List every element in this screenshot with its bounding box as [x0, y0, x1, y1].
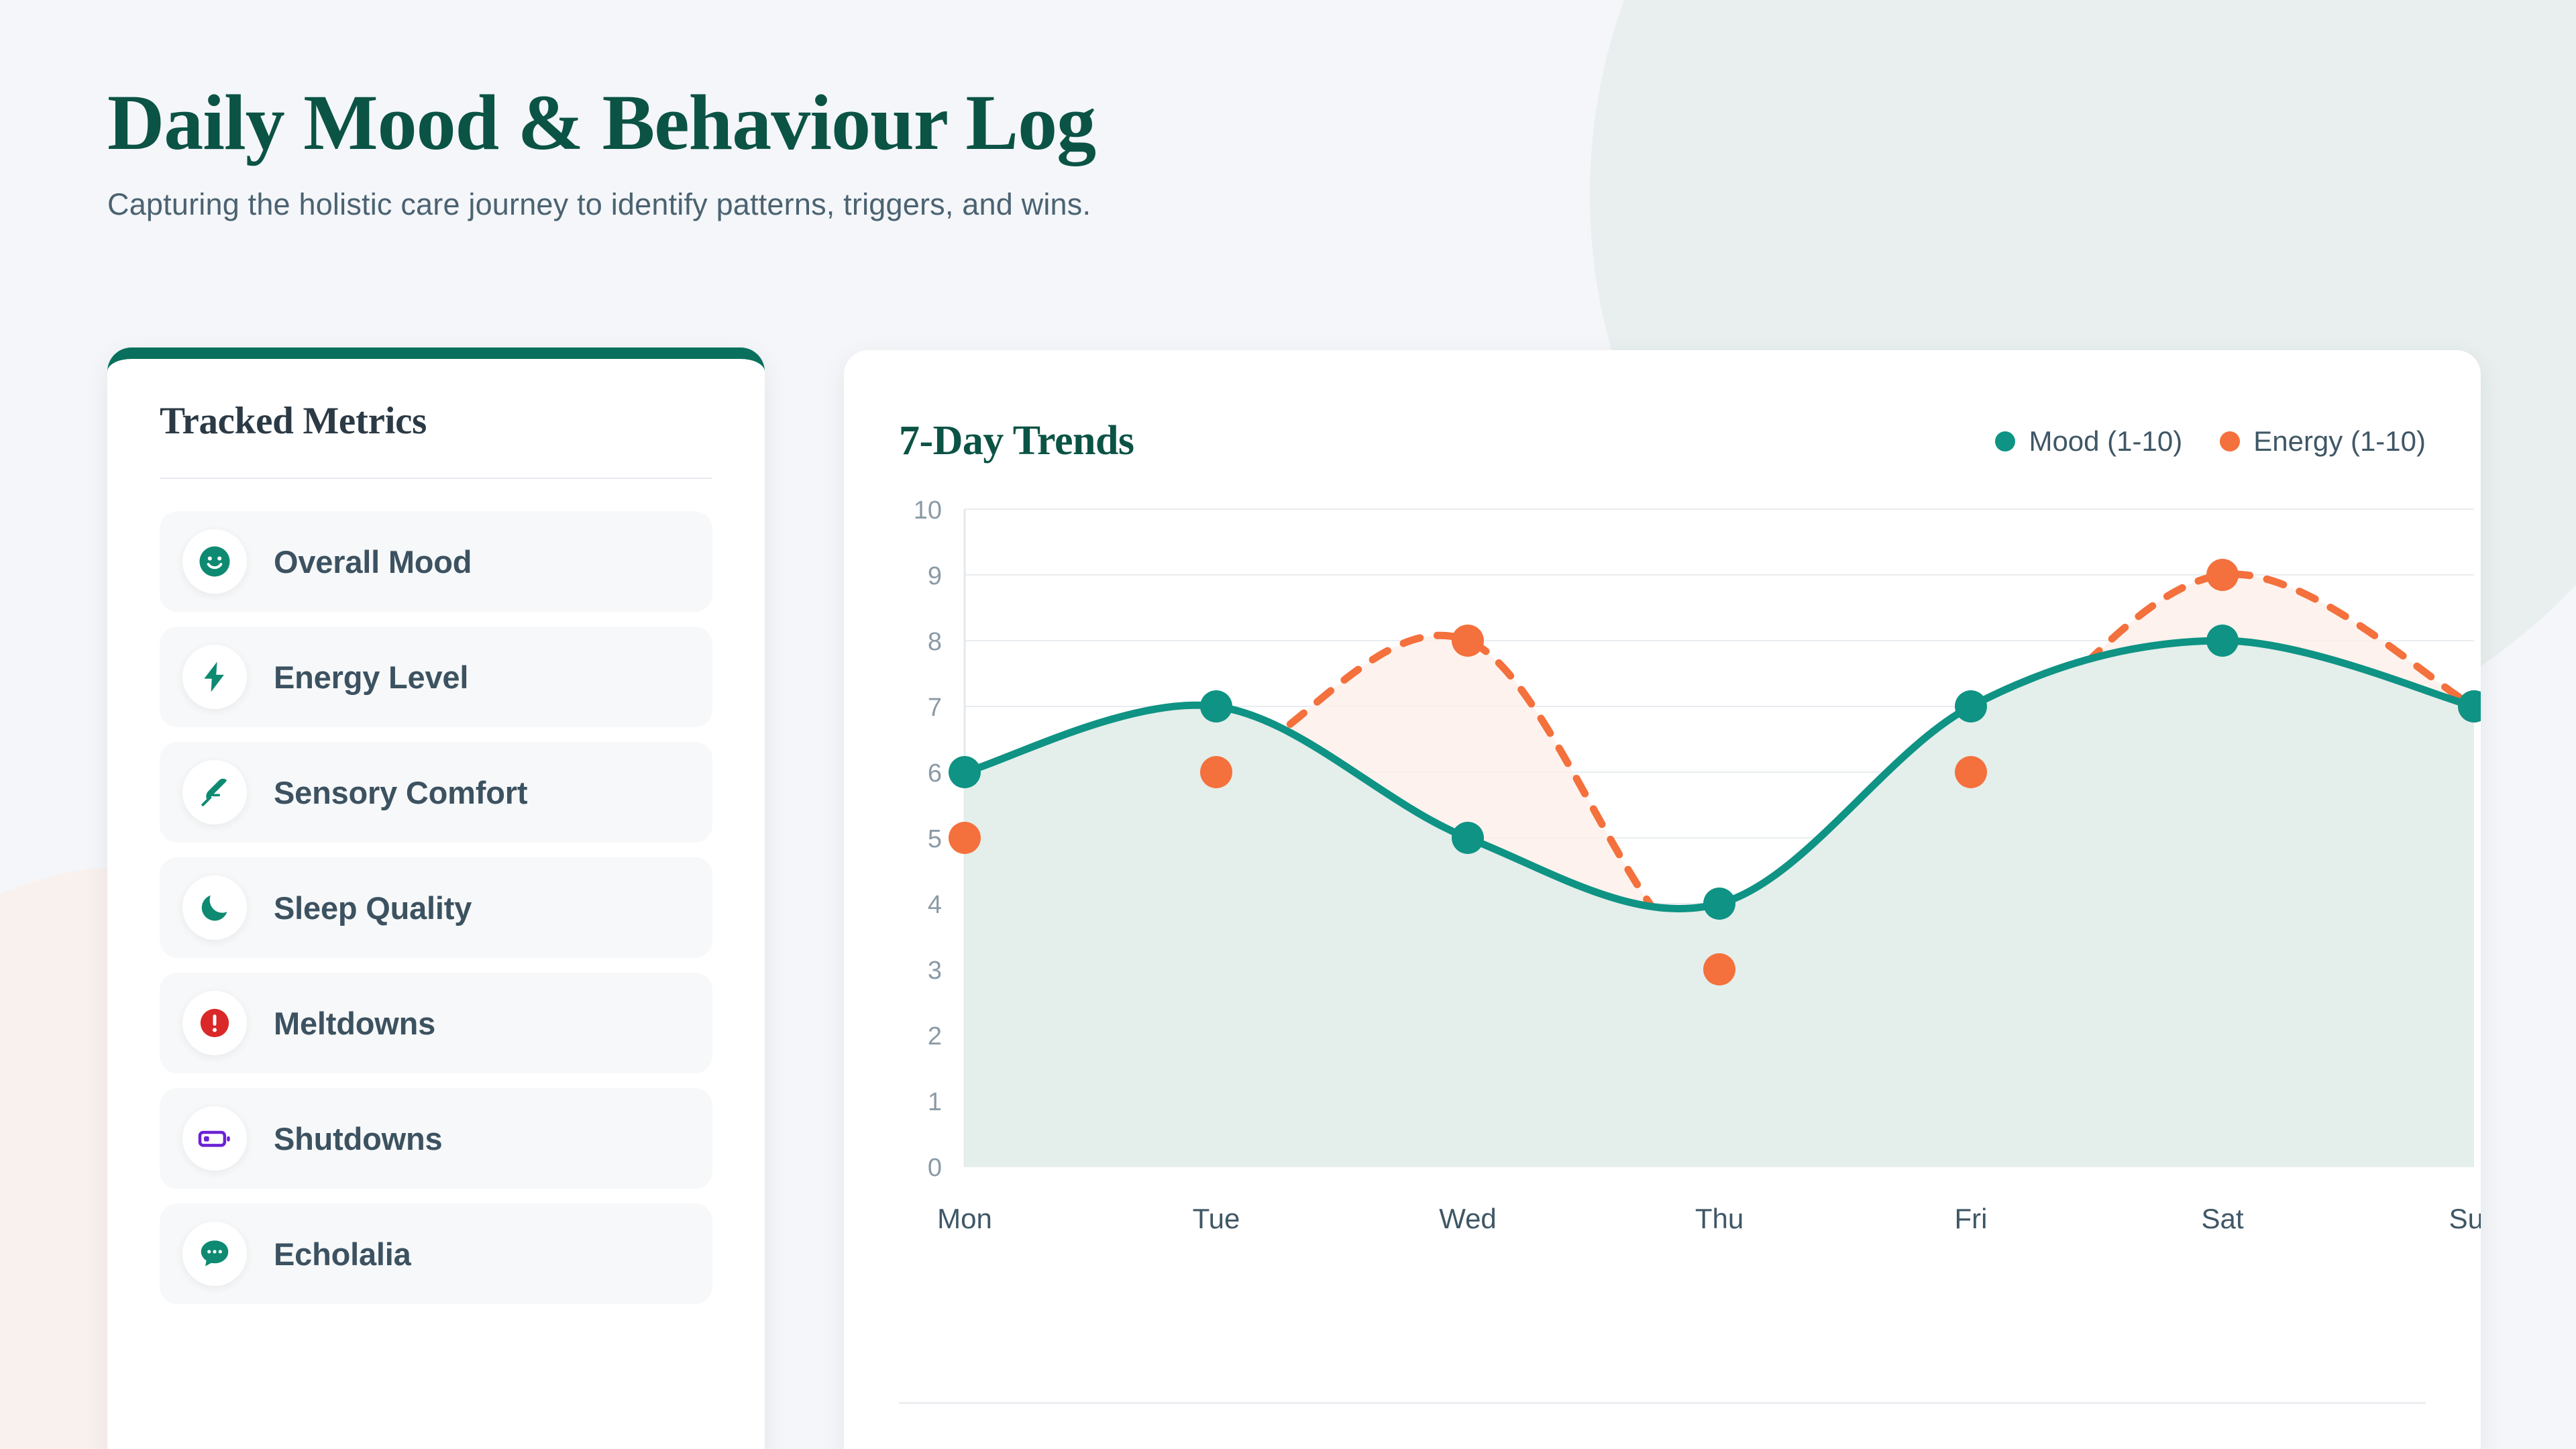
legend-dot-icon — [1995, 431, 2015, 451]
metric-item-shutdowns[interactable]: Shutdowns — [160, 1088, 712, 1189]
metric-item-echolalia[interactable]: Echolalia — [160, 1203, 712, 1304]
data-point-energy-Mon[interactable] — [949, 822, 981, 854]
y-axis-tick-label: 3 — [928, 957, 942, 985]
data-point-energy-Fri[interactable] — [1955, 756, 1987, 788]
data-point-mood-Wed[interactable] — [1452, 822, 1484, 854]
x-axis-tick-label: Mon — [937, 1203, 992, 1234]
y-axis-tick-label: 10 — [914, 496, 942, 525]
y-axis-tick-label: 7 — [928, 694, 942, 722]
y-axis-tick-label: 2 — [928, 1022, 942, 1051]
legend-item-mood[interactable]: Mood (1-10) — [1995, 425, 2182, 458]
metric-item-label: Sensory Comfort — [274, 774, 527, 811]
legend-label: Mood (1-10) — [2029, 425, 2182, 458]
data-point-mood-Tue[interactable] — [1200, 690, 1232, 722]
trends-line-chart: 012345678910MonTueWedThuFriSatSun — [844, 482, 2481, 1274]
data-point-mood-Fri[interactable] — [1955, 690, 1987, 722]
y-axis-tick-label: 5 — [928, 825, 942, 853]
metric-item-energy-level[interactable]: Energy Level — [160, 627, 712, 727]
feather-icon — [182, 760, 247, 824]
x-axis-tick-label: Fri — [1955, 1203, 1988, 1234]
page-title: Daily Mood & Behaviour Log — [107, 80, 1095, 164]
y-axis-tick-label: 8 — [928, 628, 942, 656]
metric-item-overall-mood[interactable]: Overall Mood — [160, 511, 712, 612]
data-point-mood-Mon[interactable] — [949, 756, 981, 788]
card-divider — [899, 1402, 2426, 1404]
metric-item-meltdowns[interactable]: Meltdowns — [160, 973, 712, 1073]
bolt-icon — [182, 645, 247, 709]
x-axis-tick-label: Sat — [2201, 1203, 2243, 1234]
y-axis-tick-label: 6 — [928, 759, 942, 788]
page-subtitle: Capturing the holistic care journey to i… — [107, 187, 1095, 222]
data-point-energy-Wed[interactable] — [1452, 625, 1484, 657]
legend-item-energy[interactable]: Energy (1-10) — [2220, 425, 2426, 458]
data-point-energy-Sat[interactable] — [2206, 559, 2239, 591]
metric-item-label: Sleep Quality — [274, 890, 472, 926]
tracked-metrics-title: Tracked Metrics — [160, 399, 712, 443]
legend-label: Energy (1-10) — [2253, 425, 2426, 458]
metric-item-sleep-quality[interactable]: Sleep Quality — [160, 857, 712, 958]
data-point-energy-Tue[interactable] — [1200, 756, 1232, 788]
moon-icon — [182, 875, 247, 940]
chart-header: 7-Day Trends Mood (1-10)Energy (1-10) — [844, 350, 2481, 465]
y-axis-tick-label: 0 — [928, 1154, 942, 1182]
chart-title: 7-Day Trends — [899, 417, 1134, 465]
y-axis-tick-label: 9 — [928, 562, 942, 590]
x-axis-tick-label: Tue — [1193, 1203, 1240, 1234]
sidebar-divider — [160, 478, 712, 479]
chart-legend: Mood (1-10)Energy (1-10) — [1995, 425, 2426, 458]
data-point-mood-Sat[interactable] — [2206, 625, 2239, 657]
metric-item-label: Overall Mood — [274, 543, 472, 580]
legend-dot-icon — [2220, 431, 2240, 451]
smiley-icon — [182, 529, 247, 594]
page-header: Daily Mood & Behaviour Log Capturing the… — [107, 80, 1095, 222]
x-axis-tick-label: Sun — [2449, 1203, 2481, 1234]
metric-item-label: Echolalia — [274, 1236, 411, 1273]
y-axis-tick-label: 1 — [928, 1088, 942, 1116]
trends-card: 7-Day Trends Mood (1-10)Energy (1-10) 01… — [844, 350, 2481, 1449]
page-root: Daily Mood & Behaviour Log Capturing the… — [0, 0, 2576, 1449]
battery-low-icon — [182, 1106, 247, 1171]
tracked-metrics-card: Tracked Metrics Overall MoodEnergy Level… — [107, 347, 765, 1449]
y-axis-tick-label: 4 — [928, 891, 942, 919]
chat-bubble-icon — [182, 1222, 247, 1286]
x-axis-tick-label: Wed — [1439, 1203, 1497, 1234]
alert-circle-icon — [182, 991, 247, 1055]
data-point-energy-Thu[interactable] — [1703, 953, 1735, 985]
chart-plot-area: 012345678910MonTueWedThuFriSatSun — [844, 482, 2481, 1274]
data-point-mood-Thu[interactable] — [1703, 888, 1735, 920]
x-axis-tick-label: Thu — [1695, 1203, 1743, 1234]
metric-list: Overall MoodEnergy Level Sensory Comfort… — [160, 511, 712, 1304]
metric-item-sensory-comfort[interactable]: Sensory Comfort — [160, 742, 712, 843]
metric-item-label: Shutdowns — [274, 1120, 442, 1157]
metric-item-label: Meltdowns — [274, 1005, 435, 1042]
metric-item-label: Energy Level — [274, 659, 468, 696]
